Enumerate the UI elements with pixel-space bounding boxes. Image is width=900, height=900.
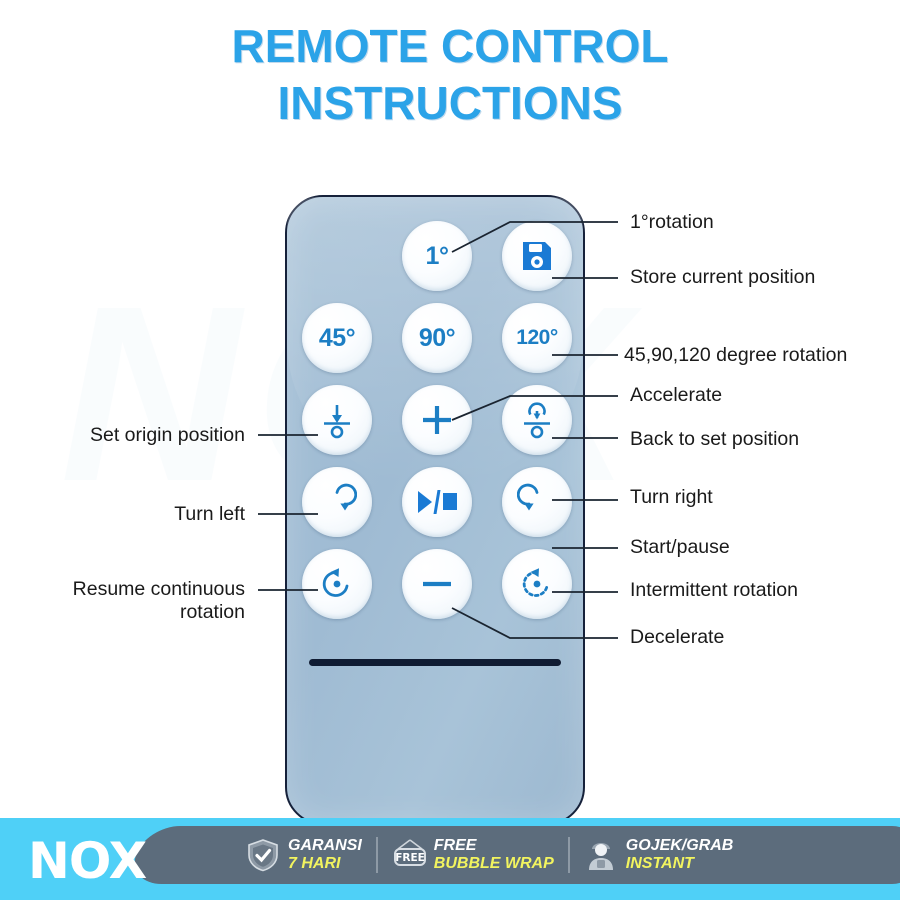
button-start-pause[interactable] (402, 467, 472, 537)
button-rotate-90[interactable]: 90° (402, 303, 472, 373)
promo-item-bubble-wrap: FREE FREE BUBBLE WRAP (378, 837, 568, 873)
button-store-position[interactable] (502, 221, 572, 291)
callout-resume-continuous: Resume continuous rotation (15, 578, 245, 624)
callout-decelerate: Decelerate (630, 626, 724, 649)
play-stop-icon (416, 489, 458, 515)
button-intermittent[interactable] (502, 549, 572, 619)
remote-bottom-bar (309, 659, 561, 666)
callout-turn-right: Turn right (630, 486, 713, 509)
promo-item-warranty: GARANSI 7 HARI (232, 837, 376, 873)
button-rotate-45-label: 45° (319, 324, 355, 353)
remote-keypad: 1° 45° 90° 120° (287, 221, 587, 619)
button-rotate-45[interactable]: 45° (302, 303, 372, 373)
button-accelerate[interactable] (402, 385, 472, 455)
shield-check-icon (246, 838, 280, 872)
keypad-empty-slot (302, 221, 372, 291)
callout-one-degree: 1°rotation (630, 211, 714, 234)
callout-set-origin: Set origin position (25, 424, 245, 447)
promo-warranty-line1: GARANSI (288, 837, 362, 855)
callout-start-pause: Start/pause (630, 536, 730, 559)
button-turn-right[interactable] (502, 467, 572, 537)
loop-to-origin-icon (517, 400, 557, 440)
title-line-1: REMOTE CONTROL (0, 18, 900, 75)
button-set-origin[interactable] (302, 385, 372, 455)
callout-intermittent: Intermittent rotation (630, 579, 798, 602)
button-rotate-120-label: 120° (516, 326, 557, 350)
button-rotate-120[interactable]: 120° (502, 303, 572, 373)
promo-item-courier: GOJEK/GRAB INSTANT (570, 837, 748, 873)
button-back-to-set[interactable] (502, 385, 572, 455)
free-tag-icon: FREE (392, 838, 426, 872)
button-turn-left[interactable] (302, 467, 372, 537)
title-line-2: INSTRUCTIONS (0, 75, 900, 132)
brand-logo-nox: NOX (28, 832, 146, 890)
button-decelerate[interactable] (402, 549, 472, 619)
rotate-clockwise-icon (317, 482, 357, 522)
button-one-degree-label: 1° (426, 242, 449, 271)
callout-turn-left: Turn left (25, 503, 245, 526)
promo-banner: NOX GARANSI 7 HARI FREE (0, 818, 900, 900)
arrow-down-to-origin-icon (317, 400, 357, 440)
callout-store-position: Store current position (630, 266, 815, 289)
floppy-save-icon (520, 239, 554, 273)
rotate-counterclockwise-icon (517, 482, 557, 522)
svg-text:FREE: FREE (395, 852, 425, 864)
button-one-degree[interactable]: 1° (402, 221, 472, 291)
courier-icon (584, 838, 618, 872)
button-resume-continuous[interactable] (302, 549, 372, 619)
promo-bubble-line2: BUBBLE WRAP (434, 855, 554, 873)
promo-bubble-line1: FREE (434, 837, 554, 855)
promo-courier-line1: GOJEK/GRAB (626, 837, 734, 855)
remote-control-body: 1° 45° 90° 120° (285, 195, 585, 825)
callout-accelerate: Accelerate (630, 384, 722, 407)
plus-icon (417, 400, 457, 440)
promo-item-courier-text: GOJEK/GRAB INSTANT (626, 837, 734, 873)
promo-courier-line2: INSTANT (626, 855, 734, 873)
intermittent-rotation-icon (517, 564, 557, 604)
minus-icon (417, 564, 457, 604)
promo-item-warranty-text: GARANSI 7 HARI (288, 837, 362, 873)
button-rotate-90-label: 90° (419, 324, 455, 353)
page-title: REMOTE CONTROL INSTRUCTIONS (0, 18, 900, 132)
callout-degree-rotation: 45,90,120 degree rotation (624, 344, 847, 367)
promo-item-bubble-wrap-text: FREE BUBBLE WRAP (434, 837, 554, 873)
continuous-rotation-icon (317, 564, 357, 604)
promo-banner-items: GARANSI 7 HARI FREE FREE BUBBLE WRAP (232, 828, 747, 882)
callout-back-to-set: Back to set position (630, 428, 799, 451)
promo-warranty-line2: 7 HARI (288, 855, 362, 873)
